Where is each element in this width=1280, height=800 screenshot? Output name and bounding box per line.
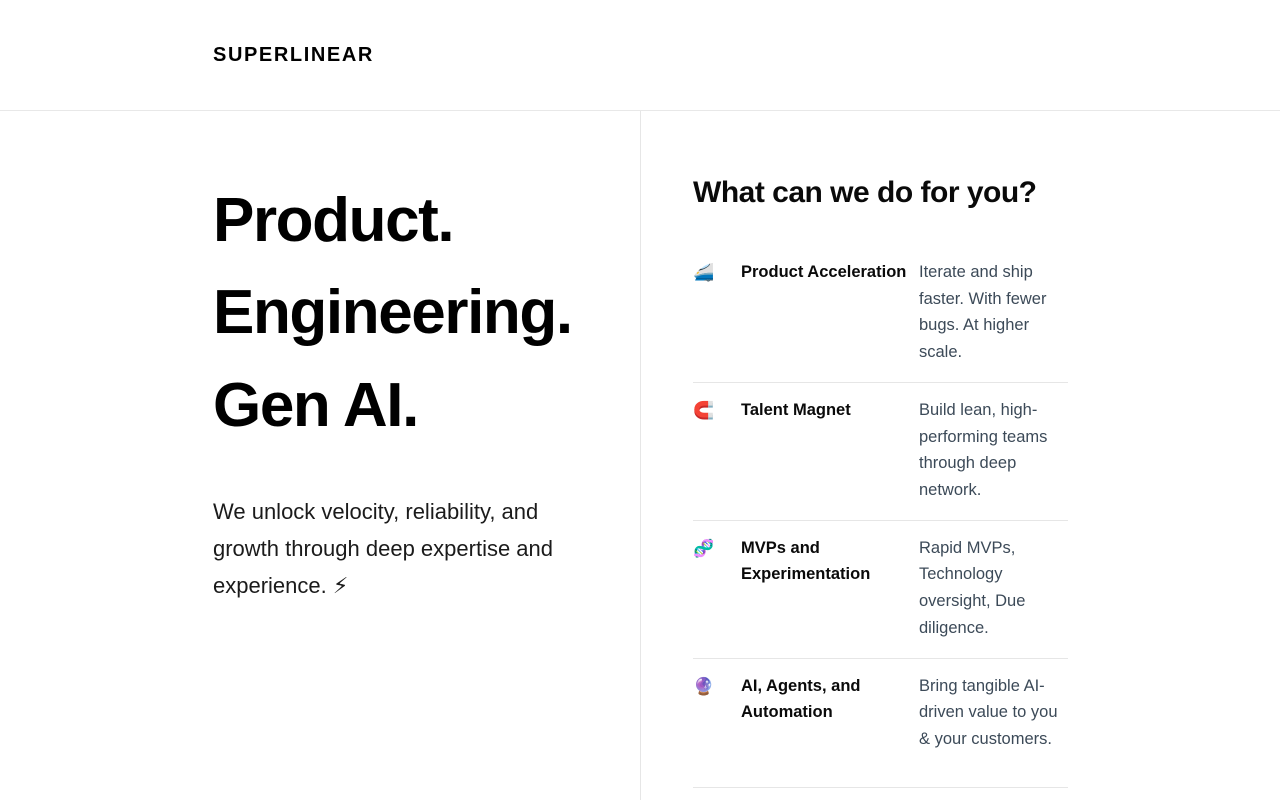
hero-subtitle: We unlock velocity, reliability, and gro… <box>213 494 592 605</box>
hero-title-line-3: Gen AI. <box>213 360 592 452</box>
magnet-icon: 🧲 <box>693 397 741 425</box>
service-description: Bring tangible AI-driven value to you & … <box>919 673 1068 753</box>
table-row[interactable]: 🚄 Product Acceleration Iterate and ship … <box>693 249 1068 383</box>
hero-title-line-2: Engineering. <box>213 267 592 359</box>
crystal-ball-icon: 🔮 <box>693 673 741 701</box>
hero-title-line-1: Product. <box>213 175 592 267</box>
services-section: What can we do for you? 🚄 Product Accele… <box>640 111 1280 800</box>
brand-logo[interactable]: SUPERLINEAR <box>213 45 374 65</box>
service-description: Iterate and ship faster. With fewer bugs… <box>919 259 1068 366</box>
services-title: What can we do for you? <box>693 175 1280 211</box>
page-main: Product. Engineering. Gen AI. We unlock … <box>0 111 1280 800</box>
site-header: SUPERLINEAR <box>0 0 1280 111</box>
service-name: AI, Agents, and Automation <box>741 673 919 725</box>
services-table: 🚄 Product Acceleration Iterate and ship … <box>693 249 1068 788</box>
hero-section: Product. Engineering. Gen AI. We unlock … <box>0 111 640 800</box>
service-name: Talent Magnet <box>741 397 919 423</box>
bullet-train-icon: 🚄 <box>693 259 741 287</box>
service-description: Rapid MVPs, Technology oversight, Due di… <box>919 535 1068 642</box>
table-row[interactable]: 🧬 MVPs and Experimentation Rapid MVPs, T… <box>693 521 1068 659</box>
service-name: Product Acceleration <box>741 259 919 285</box>
page-title: Product. Engineering. Gen AI. <box>213 175 592 452</box>
table-row[interactable]: 🔮 AI, Agents, and Automation Bring tangi… <box>693 659 1068 788</box>
dna-icon: 🧬 <box>693 535 741 563</box>
service-name: MVPs and Experimentation <box>741 535 919 587</box>
table-row[interactable]: 🧲 Talent Magnet Build lean, high-perform… <box>693 383 1068 521</box>
service-description: Build lean, high-performing teams throug… <box>919 397 1068 504</box>
